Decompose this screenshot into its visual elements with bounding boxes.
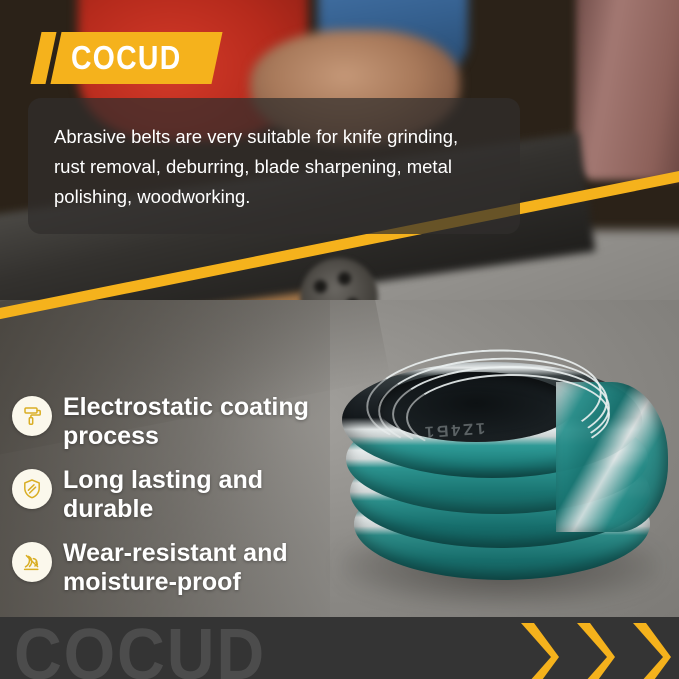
logo-text: COCUD xyxy=(71,39,182,77)
logo-plate: COCUD xyxy=(50,32,222,84)
feature-label: Long lasting and durable xyxy=(63,465,352,524)
description-text: Abrasive belts are very suitable for kni… xyxy=(54,122,494,212)
chevron-right-icon xyxy=(517,621,559,679)
feature-item: Wear-resistant and moisture-proof xyxy=(12,538,352,597)
feature-label: Wear-resistant and moisture-proof xyxy=(63,538,352,597)
chevron-group xyxy=(517,617,671,679)
workpiece-cylinder xyxy=(576,0,679,180)
product-marketing-poster: 1Z4Б1 COCUD Abrasive belts are very suit… xyxy=(0,0,679,679)
chevron-right-icon xyxy=(573,621,615,679)
watermark-text: COCUD xyxy=(14,619,266,679)
feature-label: Electrostatic coating process xyxy=(63,392,352,451)
wear-moisture-icon xyxy=(12,542,52,582)
paint-roller-icon xyxy=(12,396,52,436)
description-panel: Abrasive belts are very suitable for kni… xyxy=(28,98,520,234)
feature-item: Long lasting and durable xyxy=(12,465,352,524)
product-image-sanding-belts: 1Z4Б1 xyxy=(326,316,678,616)
brand-logo: COCUD xyxy=(36,32,217,84)
shield-icon xyxy=(12,469,52,509)
chevron-right-icon xyxy=(629,621,671,679)
feature-list: Electrostatic coating process Long lasti… xyxy=(12,392,352,611)
bottom-brand-bar: COCUD xyxy=(0,617,679,679)
feature-item: Electrostatic coating process xyxy=(12,392,352,451)
